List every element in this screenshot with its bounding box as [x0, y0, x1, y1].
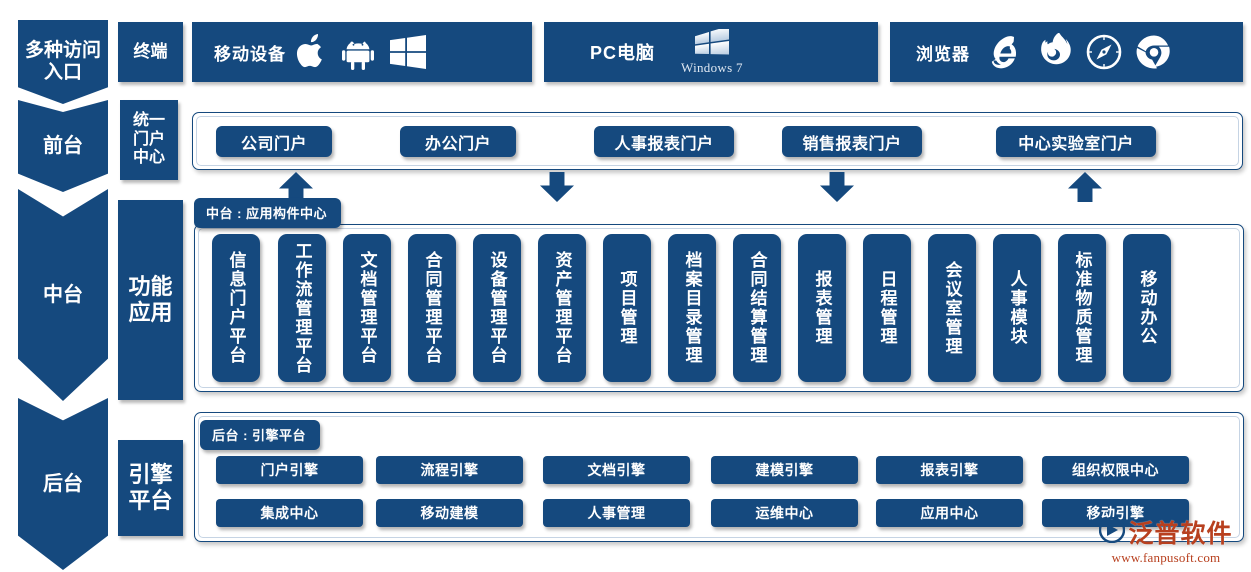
- engine-chip-11-label: 应用中心: [921, 503, 979, 523]
- column-unified-portal-center-label: 统一门户中心: [128, 112, 170, 168]
- column-engine-platform-label: 引擎平台: [125, 462, 176, 513]
- portal-item-hr-report-label: 人事报表门户: [614, 130, 713, 154]
- engine-platform-tag: 后台 : 引擎平台: [200, 420, 320, 450]
- app-card-4-label: 合同管理平台: [420, 251, 445, 365]
- engine-chip-4-label: 建模引擎: [756, 460, 814, 480]
- app-card-6-label: 资产管理平台: [550, 251, 575, 365]
- engine-chip-3[interactable]: 文档引擎: [543, 456, 690, 484]
- access-group-mobile: 移动设备: [192, 22, 532, 82]
- column-terminal: 终端: [118, 22, 183, 82]
- app-card-1-label: 信息门户平台: [224, 251, 249, 365]
- engine-chip-10[interactable]: 运维中心: [711, 499, 858, 527]
- engine-chip-9[interactable]: 人事管理: [543, 499, 690, 527]
- app-card-15-label: 移动办公: [1135, 270, 1160, 346]
- app-card-2-label: 工作流管理平台: [290, 242, 315, 375]
- mobile-icon-set: [296, 34, 426, 70]
- watermark-brand-row: 泛普软件: [1099, 514, 1232, 550]
- app-card-5[interactable]: 设备管理平台: [473, 234, 521, 382]
- android-icon: [342, 34, 374, 70]
- app-card-10-label: 报表管理: [810, 270, 835, 346]
- access-group-pc: PC电脑 Windo: [544, 22, 878, 82]
- engine-chip-2-label: 流程引擎: [421, 460, 479, 480]
- app-card-6[interactable]: 资产管理平台: [538, 234, 586, 382]
- engine-chip-6[interactable]: 组织权限中心: [1042, 456, 1189, 484]
- stage-chevron-midstage: 中台: [18, 189, 108, 401]
- app-card-13-label: 人事模块: [1005, 270, 1030, 346]
- app-card-9-label: 合同结算管理: [745, 251, 770, 365]
- app-card-1[interactable]: 信息门户平台: [212, 234, 260, 382]
- app-card-11[interactable]: 日程管理: [863, 234, 911, 382]
- engine-chip-11[interactable]: 应用中心: [876, 499, 1023, 527]
- engine-chip-8-label: 移动建模: [421, 503, 479, 523]
- internet-explorer-icon: [988, 34, 1022, 70]
- engine-chip-9-label: 人事管理: [588, 503, 646, 523]
- app-card-8-label: 档案目录管理: [680, 251, 705, 365]
- browser-icon-set: [988, 33, 1172, 71]
- engine-chip-6-label: 组织权限中心: [1072, 460, 1159, 480]
- portal-item-company-label: 公司门户: [241, 130, 307, 154]
- stage-chevron-backstage: 后台: [18, 398, 108, 570]
- windows7-icon: Windows 7: [681, 29, 743, 76]
- access-group-mobile-label: 移动设备: [192, 40, 296, 65]
- app-card-12[interactable]: 会议室管理: [928, 234, 976, 382]
- column-functional-applications-label: 功能应用: [125, 274, 176, 325]
- app-card-15[interactable]: 移动办公: [1123, 234, 1171, 382]
- engine-platform-tag-label: 后台 : 引擎平台: [212, 428, 306, 443]
- engine-chip-8[interactable]: 移动建模: [376, 499, 523, 527]
- connector-arrow-up-2: [1068, 172, 1102, 202]
- app-card-11-label: 日程管理: [875, 270, 900, 346]
- column-functional-applications: 功能应用: [118, 200, 183, 400]
- engine-chip-2[interactable]: 流程引擎: [376, 456, 523, 484]
- portal-item-sales-report-label: 销售报表门户: [802, 130, 901, 154]
- stage-chevron-frontstage-label: 前台: [43, 135, 83, 158]
- app-card-9[interactable]: 合同结算管理: [733, 234, 781, 382]
- app-card-2[interactable]: 工作流管理平台: [278, 234, 326, 382]
- portal-item-office[interactable]: 办公门户: [400, 126, 516, 157]
- engine-chip-5[interactable]: 报表引擎: [876, 456, 1023, 484]
- app-card-12-label: 会议室管理: [940, 261, 965, 356]
- chrome-icon: [1136, 34, 1172, 70]
- column-unified-portal-center: 统一门户中心: [120, 100, 178, 180]
- app-card-13[interactable]: 人事模块: [993, 234, 1041, 382]
- engine-chip-5-label: 报表引擎: [921, 460, 979, 480]
- stage-chevron-frontstage: 前台: [18, 100, 108, 192]
- app-card-4[interactable]: 合同管理平台: [408, 234, 456, 382]
- app-card-7[interactable]: 项目管理: [603, 234, 651, 382]
- app-card-7-label: 项目管理: [615, 270, 640, 346]
- access-group-browser-label: 浏览器: [890, 40, 980, 65]
- app-card-5-label: 设备管理平台: [485, 251, 510, 365]
- firefox-icon: [1036, 33, 1072, 71]
- portal-item-sales-report[interactable]: 销售报表门户: [782, 126, 922, 157]
- access-group-pc-label: PC电脑: [544, 39, 665, 65]
- column-engine-platform: 引擎平台: [118, 440, 183, 536]
- app-card-10[interactable]: 报表管理: [798, 234, 846, 382]
- portal-item-office-label: 办公门户: [425, 130, 491, 154]
- engine-chip-3-label: 文档引擎: [588, 460, 646, 480]
- engine-chip-4[interactable]: 建模引擎: [711, 456, 858, 484]
- stage-chevron-access-label: 多种访问入口: [18, 40, 108, 84]
- portal-item-company[interactable]: 公司门户: [216, 126, 332, 157]
- apple-icon: [296, 34, 326, 70]
- pc-icon-set: Windows 7: [681, 29, 743, 76]
- app-card-14-label: 标准物质管理: [1070, 251, 1095, 365]
- connector-arrow-down-1: [540, 172, 574, 202]
- stage-chevron-access: 多种访问入口: [18, 20, 108, 104]
- stage-chevron-midstage-label: 中台: [43, 284, 83, 307]
- portal-item-hr-report[interactable]: 人事报表门户: [594, 126, 734, 157]
- app-card-14[interactable]: 标准物质管理: [1058, 234, 1106, 382]
- watermark: 泛普软件 www.fanpusoft.com: [1087, 512, 1245, 568]
- safari-icon: [1086, 34, 1122, 70]
- portal-item-central-lab[interactable]: 中心实验室门户: [996, 126, 1156, 157]
- middle-platform-tag-label: 中台 : 应用构件中心: [206, 206, 327, 221]
- engine-chip-7-label: 集成中心: [261, 503, 319, 523]
- app-card-3-label: 文档管理平台: [355, 251, 380, 365]
- architecture-diagram: 多种访问入口 前台 中台 后台 终端 统一门户中心 功能应用 引擎平台 移动设备: [0, 0, 1251, 572]
- fanpu-logo-icon: [1099, 517, 1125, 548]
- engine-chip-10-label: 运维中心: [756, 503, 814, 523]
- portal-item-central-lab-label: 中心实验室门户: [1018, 130, 1134, 154]
- engine-chip-1-label: 门户引擎: [261, 460, 319, 480]
- windows7-caption: Windows 7: [681, 60, 743, 76]
- windows-icon: [390, 35, 426, 69]
- app-card-3[interactable]: 文档管理平台: [343, 234, 391, 382]
- access-group-browser: 浏览器: [890, 22, 1243, 82]
- engine-chip-7[interactable]: 集成中心: [216, 499, 363, 527]
- watermark-brand: 泛普软件: [1128, 514, 1232, 550]
- connector-arrow-down-2: [820, 172, 854, 202]
- middle-platform-tag: 中台 : 应用构件中心: [194, 198, 341, 228]
- watermark-url: www.fanpusoft.com: [1112, 550, 1221, 566]
- engine-chip-1[interactable]: 门户引擎: [216, 456, 363, 484]
- stage-chevron-backstage-label: 后台: [43, 473, 83, 496]
- app-card-8[interactable]: 档案目录管理: [668, 234, 716, 382]
- column-terminal-label: 终端: [134, 42, 168, 62]
